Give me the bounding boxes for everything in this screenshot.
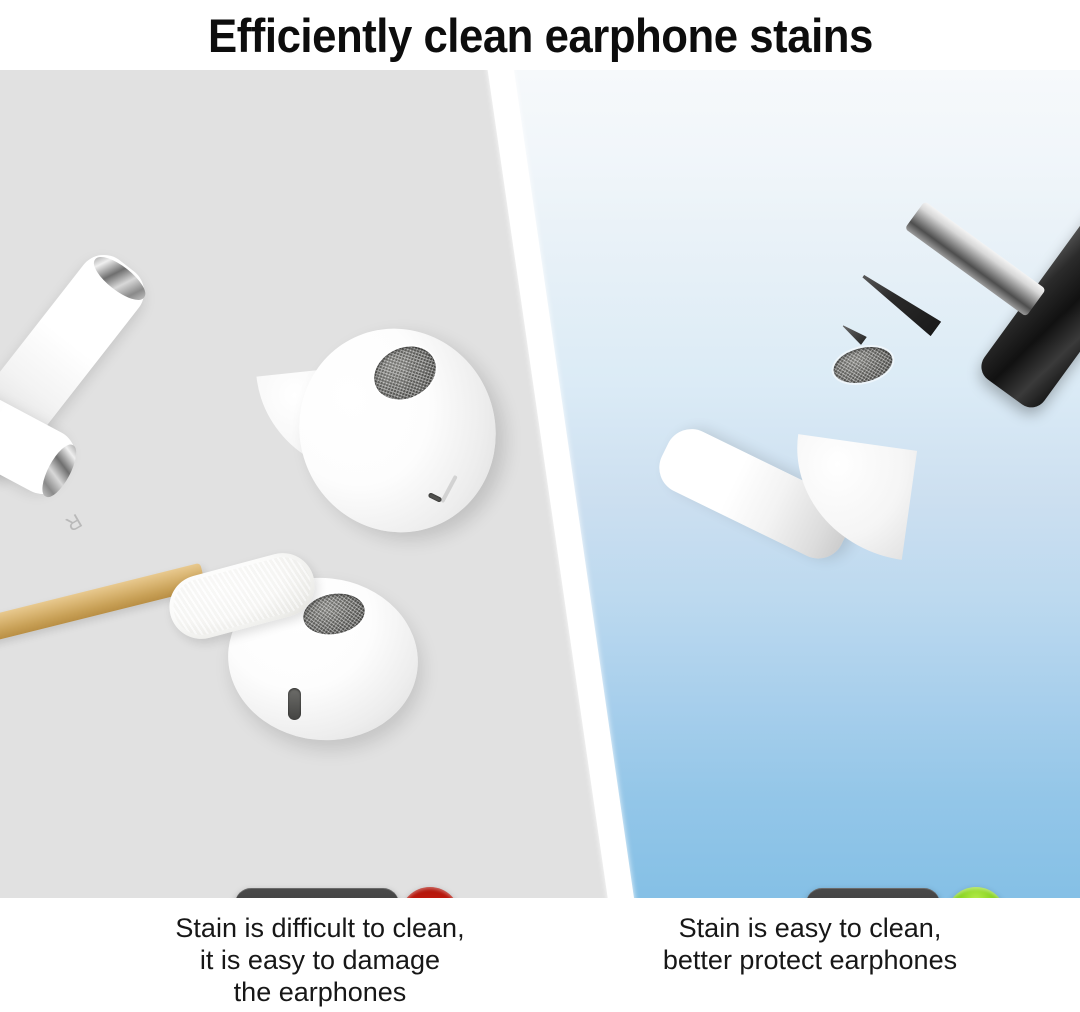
- caption-left: Stain is difficult to clean, it is easy …: [60, 912, 580, 1008]
- caption-right: Stain is easy to clean, better protect e…: [560, 912, 1060, 976]
- cleaning-pen-brush: [840, 322, 867, 345]
- caption-line: better protect earphones: [560, 944, 1060, 976]
- caption-line: the earphones: [60, 976, 580, 1008]
- caption-area: Stain is difficult to clean, it is easy …: [0, 898, 1080, 1012]
- mic-port: [288, 688, 301, 720]
- caption-line: it is easy to damage: [60, 944, 580, 976]
- page-title: Efficiently clean earphone stains: [208, 12, 873, 59]
- badge-other: Other: [235, 888, 399, 898]
- title-bar: Efficiently clean earphone stains: [0, 0, 1080, 70]
- comparison-stage: R: [0, 70, 1080, 898]
- caption-line: Stain is easy to clean,: [560, 912, 1060, 944]
- caption-line: Stain is difficult to clean,: [60, 912, 580, 944]
- cleaning-pen-shaft: [905, 201, 1046, 317]
- earphone-side-marking: R: [61, 508, 85, 535]
- badge-our: Our: [806, 888, 940, 898]
- speaker-grille-icon: [830, 341, 896, 389]
- cleaning-pen-tip: [858, 269, 941, 336]
- product-comparison-image: Efficiently clean earphone stains R: [0, 0, 1080, 1012]
- badge-pill: Other: [235, 888, 399, 898]
- earphone-head: [269, 299, 527, 562]
- badge-pill: Our: [806, 888, 940, 898]
